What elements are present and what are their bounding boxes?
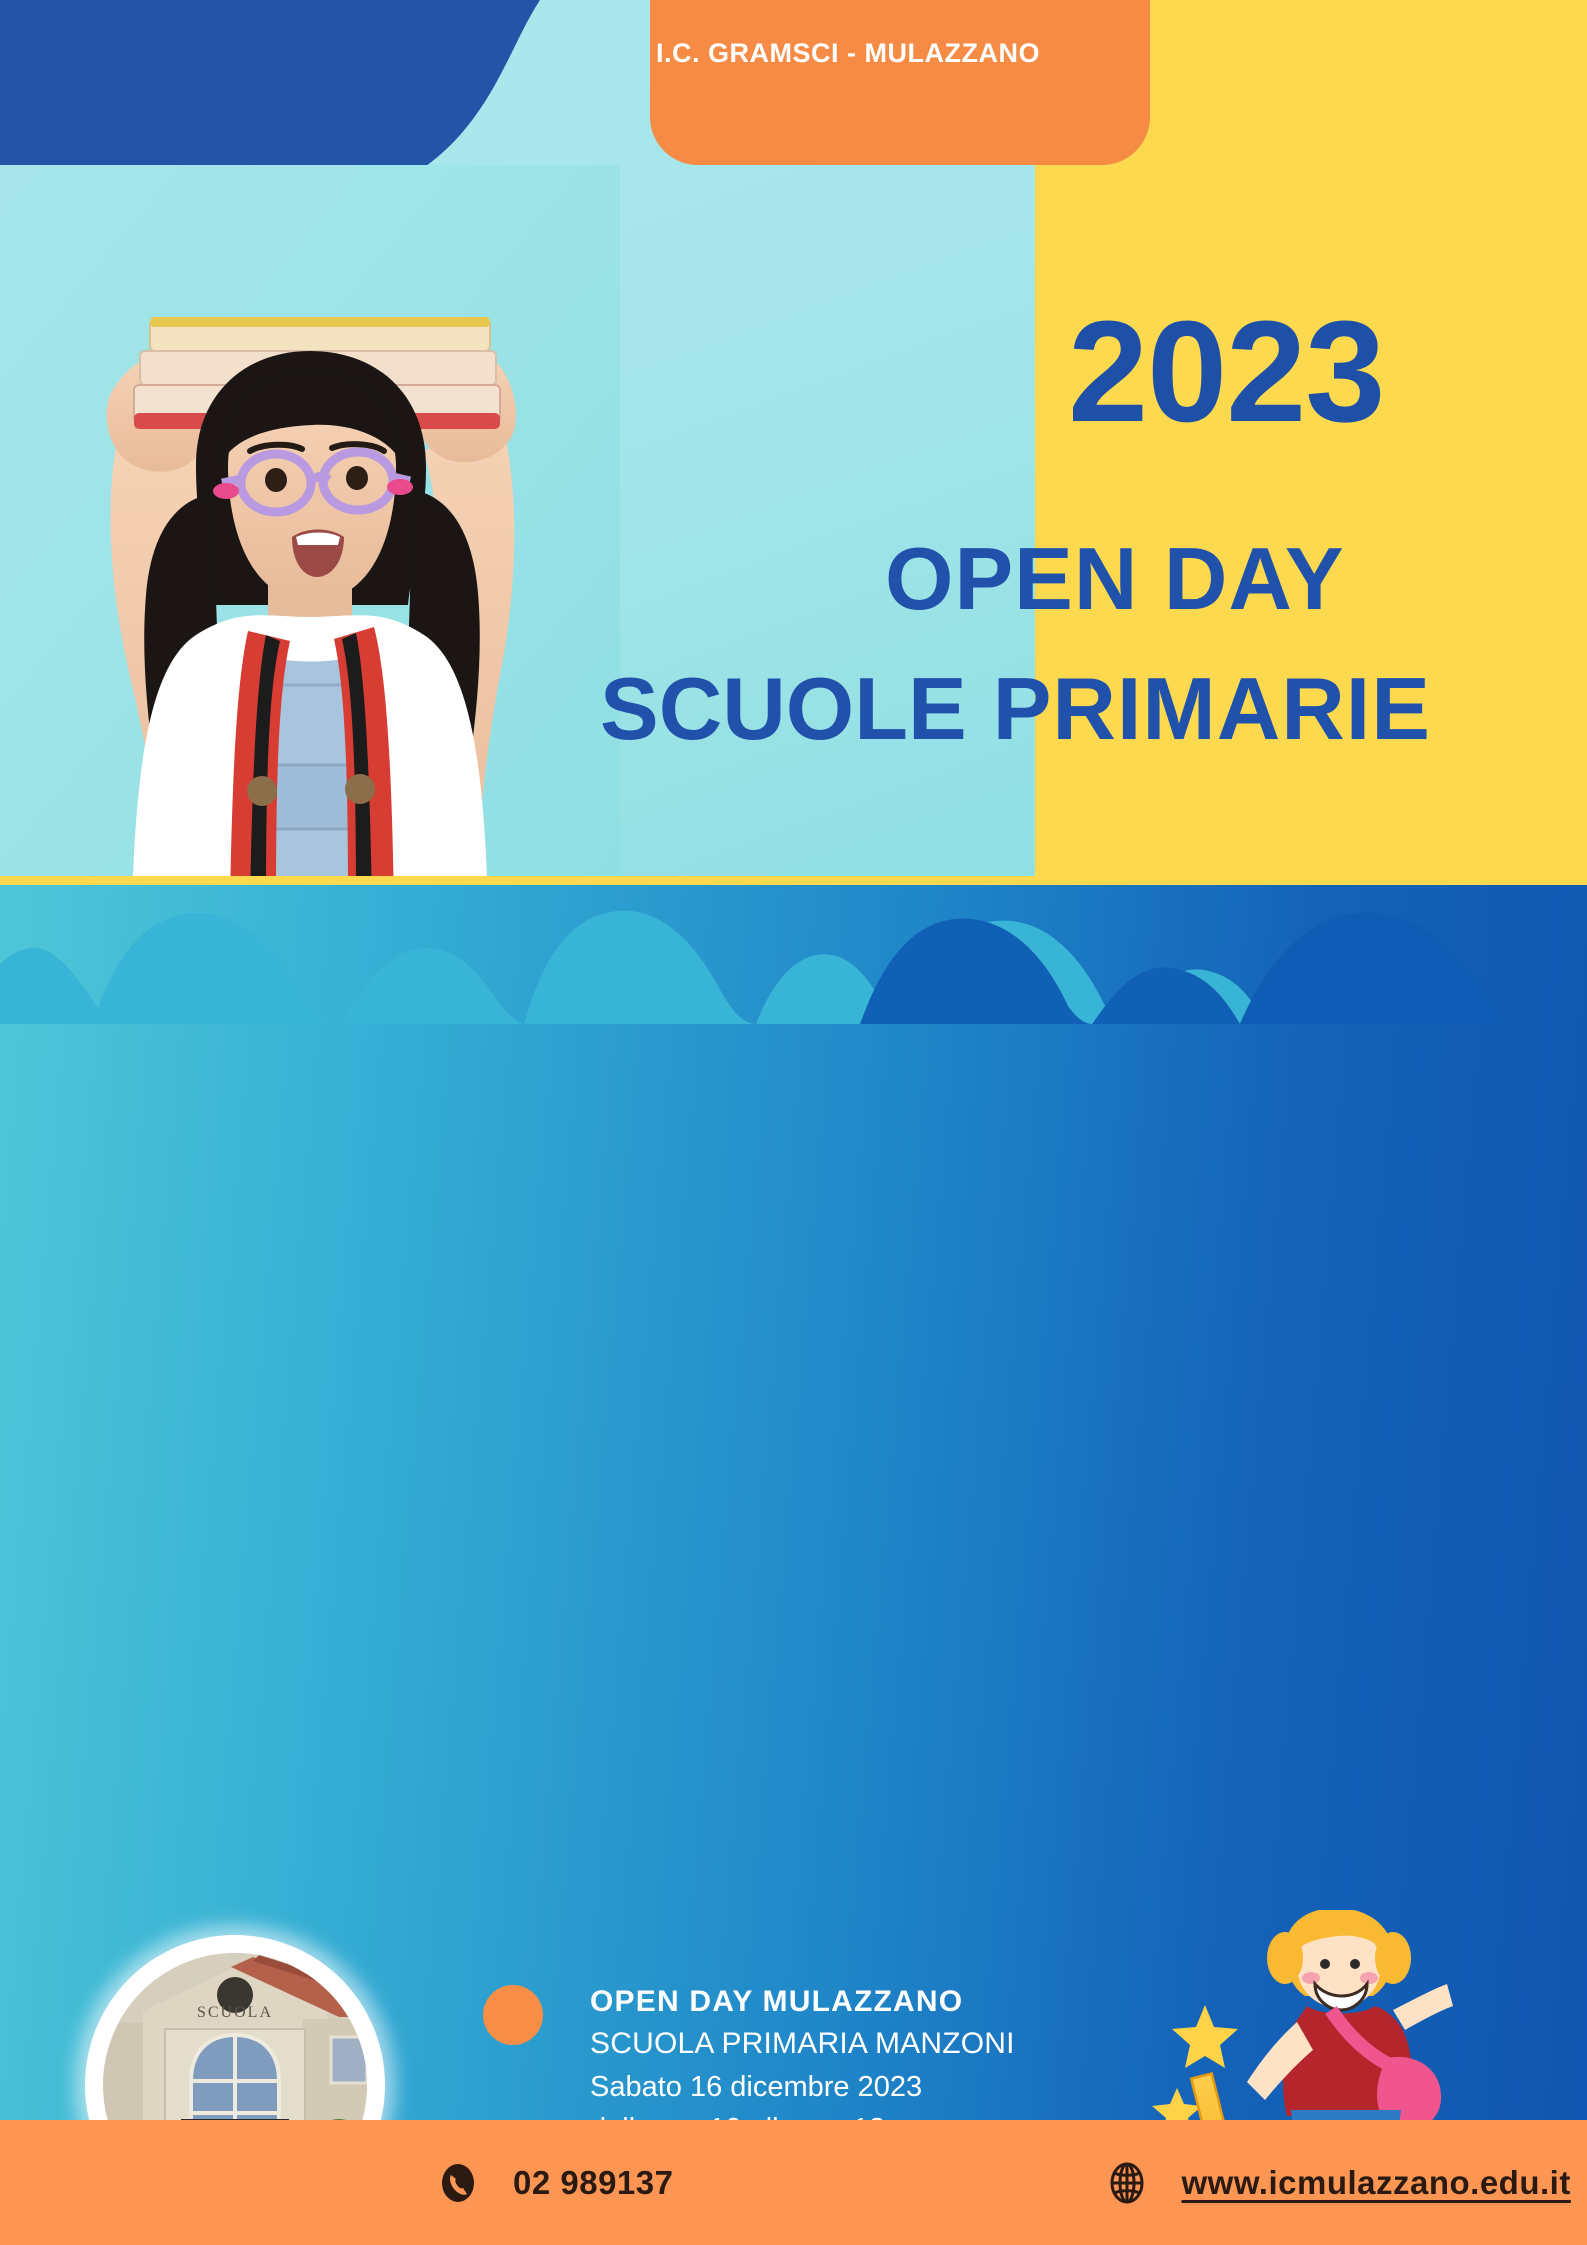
event-block-1: OPEN DAY MULAZZANO SCUOLA PRIMARIA MANZO… [590,1983,1015,2120]
hero-section: I.C. GRAMSCI - MULAZZANO [0,0,1587,905]
footer-phone-number: 02 989137 [513,2164,674,2202]
footer-website-url[interactable]: www.icmulazzano.edu.it [1182,2164,1571,2202]
poster-title-line2: SCUOLEPRIMARIE [600,665,1431,753]
event-school-1: SCUOLA PRIMARIA MANZONI [590,2021,1015,2066]
event-title-1: OPEN DAY MULAZZANO [590,1983,1015,2021]
learn-illustration: .L{font-family:"Liberation Sans",sans-se… [1135,1910,1575,2120]
event-photo-1-image: SCUOLA [103,1953,367,2120]
phone-icon [437,2162,479,2204]
footer-phone-item[interactable]: 02 989137 [437,2162,674,2204]
school-name-banner: I.C. GRAMSCI - MULAZZANO [650,0,1150,165]
event-time-1: dalle ore 10 alle ore 12 [590,2108,1015,2120]
hero-photo-girl-with-books [0,165,620,905]
scalloped-wave-divider [0,885,1587,1024]
footer-website-item[interactable]: www.icmulazzano.edu.it [1106,2162,1571,2204]
poster-title-line2-word1: SCUOLE [600,659,967,758]
footer-contact-bar: 02 989137 www.icmulazzano.edu.it [0,2120,1587,2245]
event-date-1: Sabato 16 dicembre 2023 [590,2066,1015,2109]
poster-title-line2-word2: PRIMARIE [993,659,1431,758]
poster: I.C. GRAMSCI - MULAZZANO [0,0,1587,2245]
year-label: 2023 [1068,300,1384,444]
event-photo-1: SCUOLA [85,1935,385,2120]
school-name-label: I.C. GRAMSCI - MULAZZANO [650,38,1040,69]
globe-icon [1106,2162,1148,2204]
events-section: .L{font-family:"Liberation Sans",sans-se… [0,885,1587,2120]
svg-text:SCUOLA: SCUOLA [197,2004,273,2021]
event-bullet-1 [483,1985,543,2045]
poster-title-line1: OPEN DAY [885,535,1345,623]
